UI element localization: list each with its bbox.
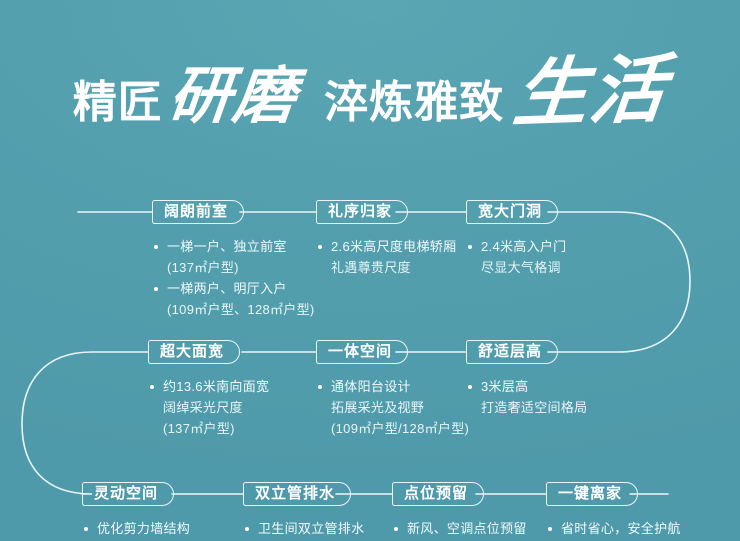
feature-bullet-list: 优化剪力墙结构 实现空间多变: [82, 518, 190, 541]
feature-bullet-list: 省时省心，安全护航: [546, 518, 681, 539]
bullet-subline: (137㎡户型): [152, 257, 315, 278]
feature-bullet-list: 2.6米高尺度电梯轿厢 礼遇尊贵尺度: [316, 236, 456, 278]
feature-badge[interactable]: 双立管排水: [243, 482, 351, 506]
headline-segment-1: 精匠: [73, 66, 163, 130]
feature-badge[interactable]: 阔朗前室: [152, 200, 244, 224]
bullet-subline: 打造奢适空间格局: [466, 397, 587, 418]
bullet-subline: 礼遇尊贵尺度: [316, 257, 456, 278]
feature-badge-label: 点位预留: [404, 485, 468, 502]
feature-card-yitikongjian[interactable]: 一体空间 通体阳台设计 拓展采光及视野 (109㎡户型/128㎡户型): [316, 340, 469, 439]
feature-card-chaodamiankuan[interactable]: 超大面宽 约13.6米南向面宽 阔绰采光尺度 (137㎡户型): [148, 340, 269, 439]
feature-bullet-list: 卫生间双立管排水 有效防止异味: [243, 518, 364, 541]
bullet-subline: 拓展采光及视野: [316, 397, 469, 418]
feature-badge-label: 礼序归家: [328, 203, 392, 220]
bullet-item: 2.4米高入户门: [466, 236, 566, 257]
feature-badge-label: 超大面宽: [160, 343, 224, 360]
feature-bullet-list: 3米层高 打造奢适空间格局: [466, 376, 587, 418]
feature-badge-label: 灵动空间: [94, 485, 158, 502]
bullet-subline: (137㎡户型): [148, 418, 269, 439]
feature-bullet-list: 2.4米高入户门 尽显大气格调: [466, 236, 566, 278]
connector-left-uturn: [22, 352, 148, 494]
feature-card-lixuguijia[interactable]: 礼序归家 2.6米高尺度电梯轿厢 礼遇尊贵尺度: [316, 200, 456, 278]
feature-card-yijianlijia[interactable]: 一键离家 省时省心，安全护航: [546, 482, 681, 539]
page-title: 精匠 研磨 淬炼雅致 生活: [0, 32, 740, 139]
feature-bullet-list: 新风、空调点位预留 便于后期装修: [392, 518, 527, 541]
headline: 精匠 研磨 淬炼雅致 生活: [73, 32, 667, 139]
headline-segment-4: 生活: [509, 29, 673, 141]
feature-bullet-list: 约13.6米南向面宽 阔绰采光尺度 (137㎡户型): [148, 376, 269, 439]
feature-badge[interactable]: 超大面宽: [148, 340, 240, 364]
feature-card-dianweiyuliu[interactable]: 点位预留 新风、空调点位预留 便于后期装修: [392, 482, 527, 541]
feature-badge[interactable]: 点位预留: [392, 482, 484, 506]
bullet-subline: (109㎡户型/128㎡户型): [316, 418, 469, 439]
feature-bullet-list: 一梯一户、独立前室 (137㎡户型) 一梯两户、明厅入户 (109㎡户型、128…: [152, 236, 315, 320]
feature-card-lingdongkongjian[interactable]: 灵动空间 优化剪力墙结构 实现空间多变: [82, 482, 190, 541]
bullet-subline: 尽显大气格调: [466, 257, 566, 278]
bullet-item: 3米层高: [466, 376, 587, 397]
feature-badge-label: 双立管排水: [255, 485, 335, 502]
feature-badge[interactable]: 一键离家: [546, 482, 638, 506]
headline-segment-2: 研磨: [165, 45, 302, 135]
feature-card-kuandamendong[interactable]: 宽大门洞 2.4米高入户门 尽显大气格调: [466, 200, 566, 278]
feature-badge-label: 一体空间: [328, 343, 392, 360]
poster-canvas: 精匠 研磨 淬炼雅致 生活 阔朗前室: [0, 0, 740, 541]
feature-bullet-list: 通体阳台设计 拓展采光及视野 (109㎡户型/128㎡户型): [316, 376, 469, 439]
feature-badge-label: 舒适层高: [478, 343, 542, 360]
bullet-item: 通体阳台设计: [316, 376, 469, 397]
feature-badge-label: 一键离家: [558, 485, 622, 502]
bullet-item: 一梯一户、独立前室: [152, 236, 315, 257]
bullet-item: 优化剪力墙结构: [82, 518, 190, 539]
connector-right-uturn: [548, 212, 690, 352]
headline-segment-3: 淬炼雅致: [324, 66, 504, 130]
feature-badge-label: 宽大门洞: [478, 203, 542, 220]
bullet-subline: 阔绰采光尺度: [148, 397, 269, 418]
bullet-item: 省时省心，安全护航: [546, 518, 681, 539]
feature-badge[interactable]: 灵动空间: [82, 482, 174, 506]
feature-badge-label: 阔朗前室: [164, 203, 228, 220]
feature-card-kuolangqianshi[interactable]: 阔朗前室 一梯一户、独立前室 (137㎡户型) 一梯两户、明厅入户 (109㎡户…: [152, 200, 315, 320]
feature-card-shushicenggao[interactable]: 舒适层高 3米层高 打造奢适空间格局: [466, 340, 587, 418]
bullet-item: 卫生间双立管排水: [243, 518, 364, 539]
bullet-item: 新风、空调点位预留: [392, 518, 527, 539]
feature-badge[interactable]: 宽大门洞: [466, 200, 558, 224]
feature-badge[interactable]: 礼序归家: [316, 200, 408, 224]
bullet-item: 约13.6米南向面宽: [148, 376, 269, 397]
feature-card-shuangliguanpaishui[interactable]: 双立管排水 卫生间双立管排水 有效防止异味: [243, 482, 364, 541]
bullet-item: 2.6米高尺度电梯轿厢: [316, 236, 456, 257]
feature-row-3: 灵动空间 优化剪力墙结构 实现空间多变 双立管排水 卫生间双立管排水 有效防止异…: [0, 482, 740, 541]
feature-badge[interactable]: 一体空间: [316, 340, 408, 364]
bullet-item: 一梯两户、明厅入户: [152, 278, 315, 299]
feature-badge[interactable]: 舒适层高: [466, 340, 558, 364]
bullet-subline: (109㎡户型、128㎡户型): [152, 299, 315, 320]
